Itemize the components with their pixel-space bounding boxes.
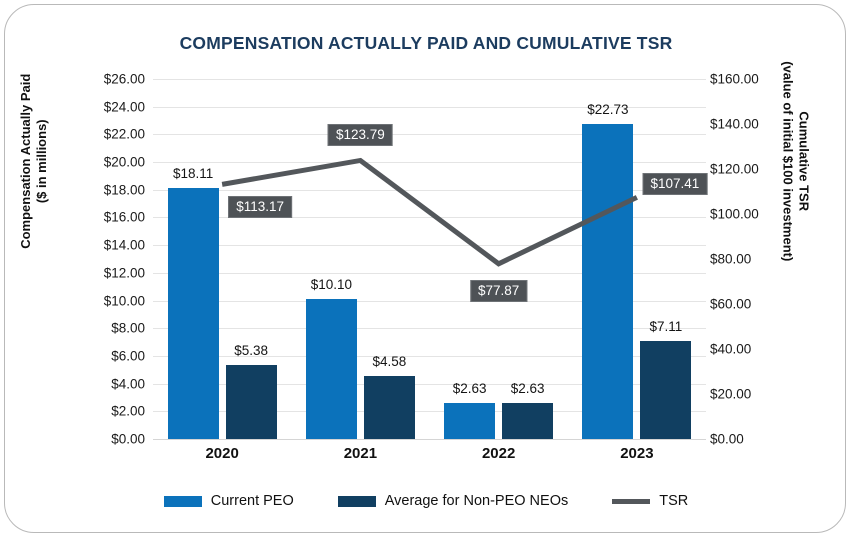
left-axis-title: Compensation Actually Paid ($ in million…: [18, 31, 51, 291]
left-axis-tick: $10.00: [65, 293, 145, 308]
bar-avg-non-peo-neos[interactable]: [640, 341, 691, 439]
right-axis-tick: $60.00: [710, 297, 790, 312]
legend-item-tsr[interactable]: TSR: [612, 493, 688, 509]
right-axis-tick: $0.00: [710, 432, 790, 447]
x-axis-tick-2020: 2020: [205, 445, 238, 462]
legend-item-average-for-non-peo-neos[interactable]: Average for Non-PEO NEOs: [338, 493, 568, 509]
tsr-value-label: $77.87: [470, 280, 527, 302]
legend-color-swatch-icon: [164, 496, 202, 507]
right-axis-tick: $160.00: [710, 72, 790, 87]
gridline: [153, 79, 706, 80]
bar-value-label: $5.38: [234, 343, 268, 358]
left-axis-tick: $6.00: [65, 348, 145, 363]
right-axis-tick: $40.00: [710, 342, 790, 357]
bar-avg-non-peo-neos[interactable]: [364, 376, 415, 439]
x-axis-tick-2022: 2022: [482, 445, 515, 462]
left-axis-tick: $22.00: [65, 127, 145, 142]
left-axis-tick: $26.00: [65, 72, 145, 87]
legend-line-swatch-icon: [612, 499, 650, 504]
right-axis-tick: $20.00: [710, 387, 790, 402]
tsr-value-label: $123.79: [328, 124, 393, 146]
chart-card: COMPENSATION ACTUALLY PAID AND CUMULATIV…: [4, 4, 846, 533]
right-axis-tick: $80.00: [710, 252, 790, 267]
legend-color-swatch-icon: [338, 496, 376, 507]
bar-value-label: $4.58: [372, 354, 406, 369]
left-axis-tick-labels: $0.00$2.00$4.00$6.00$8.00$10.00$12.00$14…: [61, 79, 145, 439]
right-axis-tick-labels: $0.00$20.00$40.00$60.00$80.00$100.00$120…: [710, 79, 794, 439]
bar-current-peo[interactable]: [582, 124, 633, 439]
right-axis-tick: $100.00: [710, 207, 790, 222]
right-axis-title-line1: Cumulative TSR: [795, 31, 811, 291]
left-axis-tick: $24.00: [65, 99, 145, 114]
bar-value-label: $7.11: [649, 319, 682, 334]
bar-avg-non-peo-neos[interactable]: [502, 403, 553, 439]
x-axis-tick-labels: 2020202120222023: [153, 445, 706, 471]
bar-value-label: $2.63: [453, 381, 487, 396]
left-axis-tick: $0.00: [65, 432, 145, 447]
bar-current-peo[interactable]: [168, 188, 219, 439]
bar-value-label: $22.73: [587, 102, 628, 117]
bar-value-label: $18.11: [173, 166, 213, 181]
legend-item-current-peo[interactable]: Current PEO: [164, 493, 294, 509]
legend-label: Average for Non-PEO NEOs: [385, 493, 568, 509]
left-axis-title-line1: Compensation Actually Paid: [18, 31, 34, 291]
left-axis-title-line2: ($ in millions): [34, 31, 50, 291]
plot-area: $18.11$5.38$10.10$4.58$2.63$2.63$22.73$7…: [153, 79, 706, 439]
left-axis-tick: $20.00: [65, 155, 145, 170]
right-axis-tick: $140.00: [710, 117, 790, 132]
bar-current-peo[interactable]: [306, 299, 357, 439]
bar-value-label: $2.63: [511, 381, 545, 396]
x-axis-tick-2023: 2023: [620, 445, 653, 462]
left-axis-tick: $8.00: [65, 321, 145, 336]
tsr-value-label: $113.17: [228, 196, 292, 218]
left-axis-tick: $14.00: [65, 238, 145, 253]
chart-legend: Current PEOAverage for Non-PEO NEOsTSR: [5, 493, 846, 509]
left-axis-tick: $12.00: [65, 265, 145, 280]
bar-current-peo[interactable]: [444, 403, 495, 439]
x-axis-tick-2021: 2021: [344, 445, 377, 462]
bar-value-label: $10.10: [311, 277, 352, 292]
page-title: COMPENSATION ACTUALLY PAID AND CUMULATIV…: [5, 33, 846, 54]
right-axis-tick: $120.00: [710, 162, 790, 177]
bar-avg-non-peo-neos[interactable]: [226, 365, 277, 439]
left-axis-tick: $2.00: [65, 404, 145, 419]
left-axis-tick: $18.00: [65, 182, 145, 197]
left-axis-tick: $16.00: [65, 210, 145, 225]
tsr-value-label: $107.41: [642, 173, 707, 195]
legend-label: TSR: [659, 493, 688, 509]
gridline: [153, 439, 706, 440]
legend-label: Current PEO: [211, 493, 294, 509]
left-axis-tick: $4.00: [65, 376, 145, 391]
